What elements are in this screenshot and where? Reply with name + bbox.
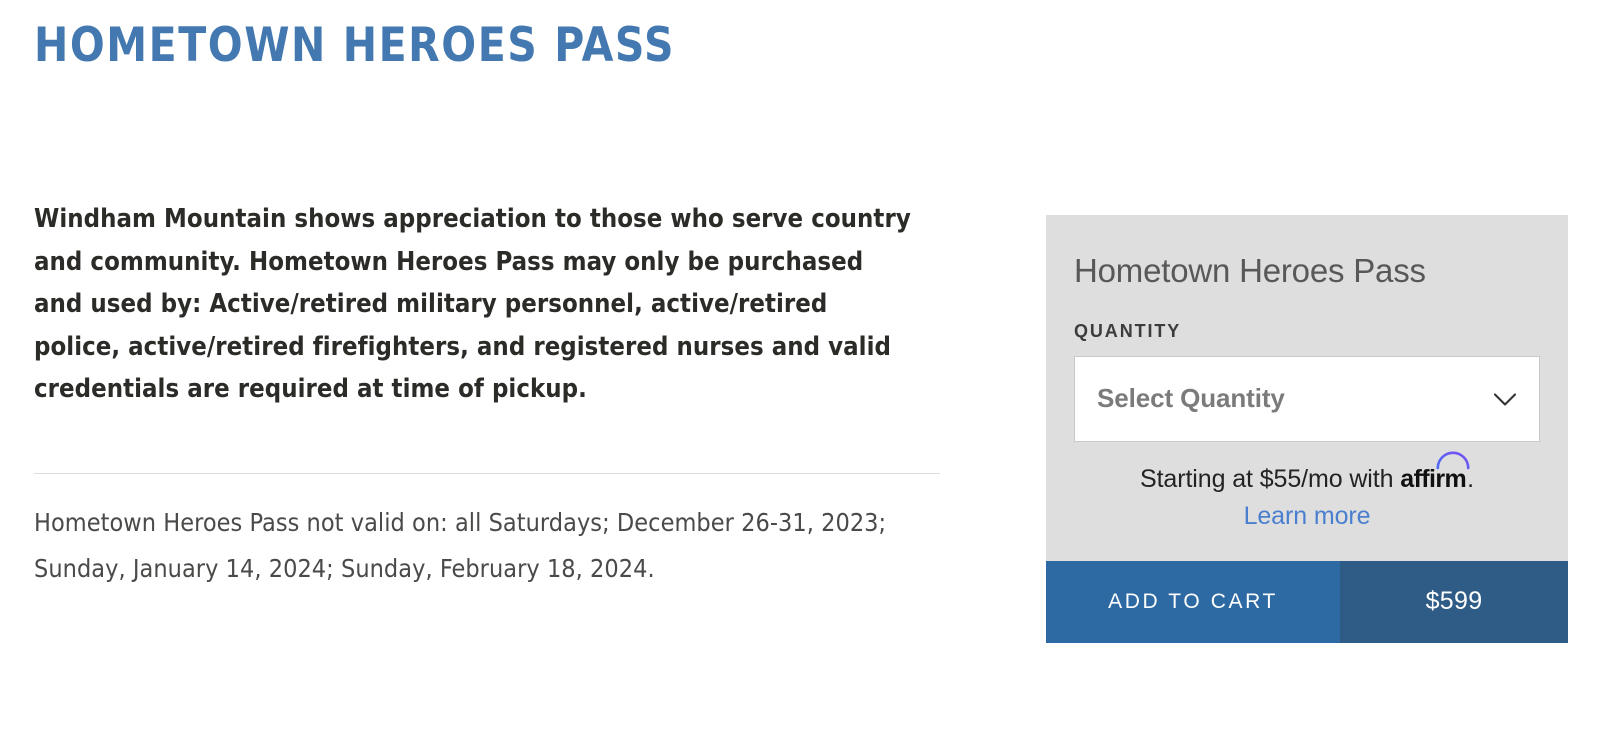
purchase-panel-title: Hometown Heroes Pass: [1074, 251, 1540, 291]
affirm-wordmark: affirm: [1400, 465, 1466, 493]
affirm-prefix-text: Starting at $55/mo with: [1140, 465, 1400, 493]
chevron-down-icon: [1491, 385, 1519, 413]
quantity-select[interactable]: Select Quantity: [1074, 356, 1540, 442]
purchase-panel-body: Hometown Heroes Pass QUANTITY Select Qua…: [1046, 215, 1568, 561]
affirm-message: Starting at $55/mo with affirm .: [1074, 464, 1540, 495]
intro-paragraph: Windham Mountain shows appreciation to t…: [34, 198, 914, 411]
quantity-label: QUANTITY: [1074, 321, 1540, 342]
price-button[interactable]: $599: [1340, 561, 1568, 643]
affirm-learn-more-link[interactable]: Learn more: [1074, 502, 1540, 531]
add-to-cart-button[interactable]: ADD TO CART: [1046, 561, 1340, 643]
affirm-arc-icon: [1436, 449, 1470, 469]
affirm-logo: affirm: [1400, 464, 1467, 495]
purchase-panel-actions: ADD TO CART $599: [1046, 561, 1568, 643]
product-page: HOMETOWN HEROES PASS Windham Mountain sh…: [0, 0, 1600, 754]
product-description-column: HOMETOWN HEROES PASS Windham Mountain sh…: [34, 0, 964, 754]
section-divider: [34, 473, 940, 474]
page-title: HOMETOWN HEROES PASS: [34, 19, 675, 73]
affirm-financing-block: Starting at $55/mo with affirm . Learn m…: [1074, 464, 1540, 531]
purchase-panel: Hometown Heroes Pass QUANTITY Select Qua…: [1046, 215, 1568, 643]
quantity-select-value: Select Quantity: [1097, 383, 1285, 414]
restrictions-paragraph: Hometown Heroes Pass not valid on: all S…: [34, 500, 944, 592]
